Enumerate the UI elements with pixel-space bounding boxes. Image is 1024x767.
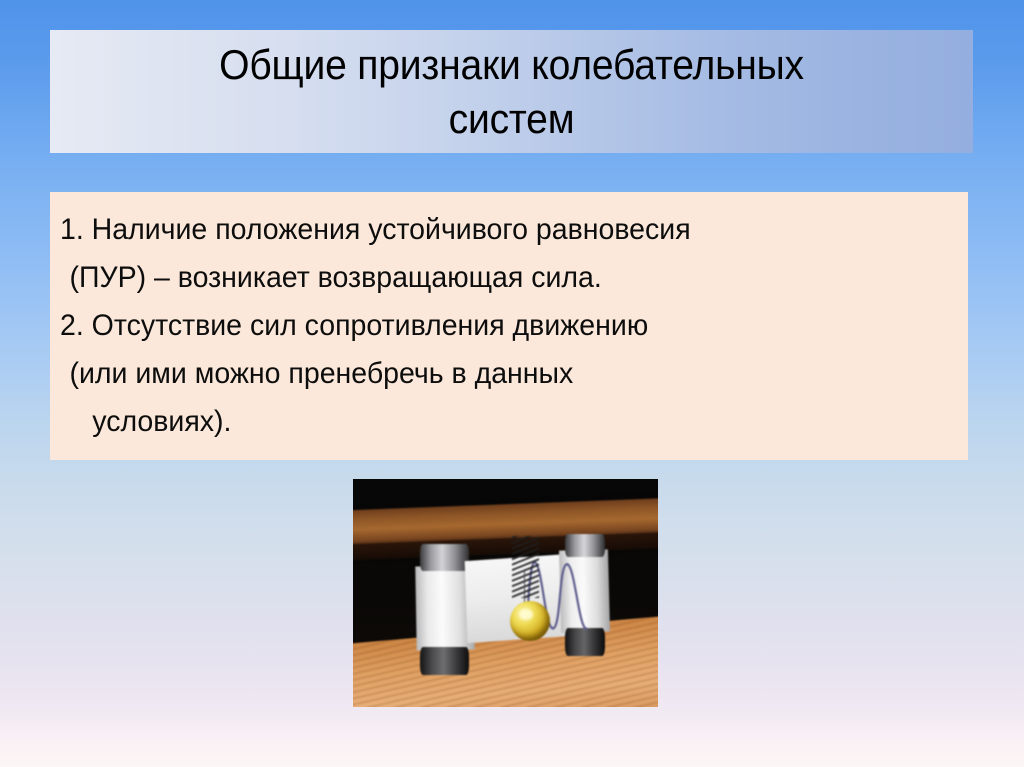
page-title: Общие признаки колебательных систем [82,38,940,146]
photo-left-bottom-cap [420,647,469,676]
content-line-2: (ПУР) – возникает возвращающая сила. [60,254,907,302]
slide-canvas: Общие признаки колебательных систем 1. Н… [0,0,1024,767]
photo-left-top-cap [420,544,469,571]
slide-content-box: 1. Наличие положения устойчивого равнове… [50,192,968,460]
content-line-5: условиях). [60,398,907,446]
photo-golden-pendulum-bob [510,601,550,641]
photo-spring-suspension [512,536,539,598]
content-line-4: (или ими можно пренебречь в данных [60,350,907,398]
pendulum-sine-trace-photo [353,479,658,707]
photo-content [353,479,658,707]
content-line-1: 1. Наличие положения устойчивого равнове… [60,206,907,254]
photo-right-top-cap [565,534,605,557]
slide-title-box: Общие признаки колебательных систем [50,30,973,153]
content-line-3: 2. Отсутствие сил сопротивления движению [60,302,907,350]
